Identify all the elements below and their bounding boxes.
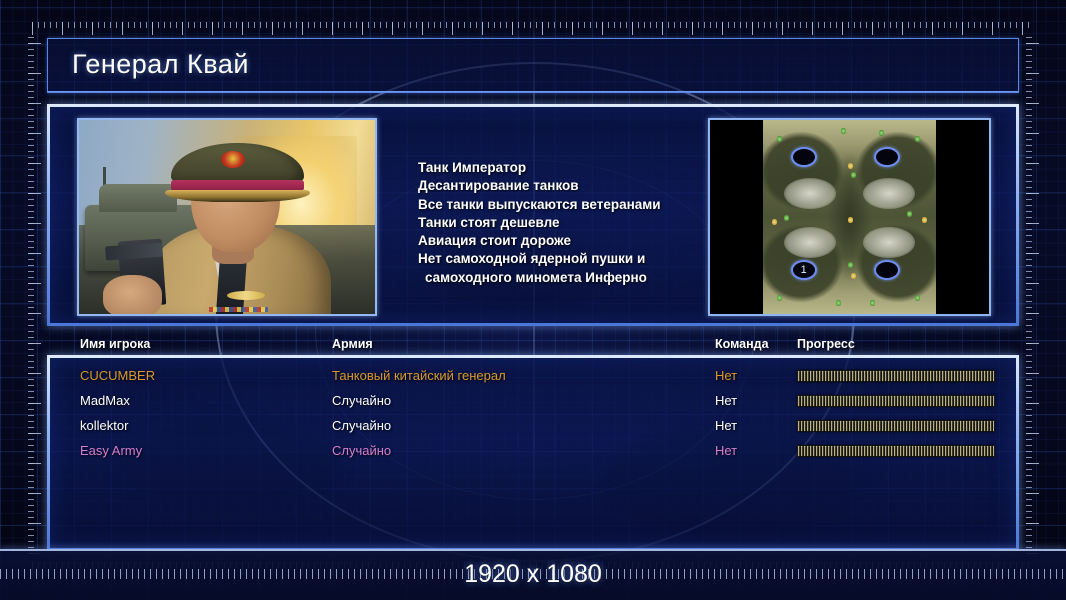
resolution-overlay: 1920 x 1080 (0, 549, 1066, 600)
player-table-header: Имя игрока Армия Команда Прогресс (47, 337, 1019, 355)
map-start-position[interactable]: 1 (791, 260, 817, 280)
map-start-position[interactable] (874, 147, 900, 167)
map-resource (848, 163, 853, 169)
portrait-ribbon-bar (209, 307, 268, 312)
player-team: Нет (715, 368, 737, 383)
player-progress-bar (797, 445, 995, 457)
title-bar: Генерал Квай (47, 38, 1019, 93)
description-line: Нет самоходной ядерной пушки и (418, 250, 718, 268)
general-description: Танк Император Десантирование танков Все… (418, 159, 718, 287)
column-header-progress: Прогресс (797, 337, 855, 351)
column-header-army: Армия (332, 337, 373, 351)
map-start-position[interactable] (791, 147, 817, 167)
player-team: Нет (715, 418, 737, 433)
general-portrait (77, 118, 377, 316)
player-name: kollektor (80, 418, 128, 433)
description-line: Танк Император (418, 159, 718, 177)
player-rows: CUCUMBER Танковый китайский генерал Нет … (50, 364, 1016, 548)
player-name: CUCUMBER (80, 368, 155, 383)
map-terrain: 1 (763, 120, 936, 314)
map-resource (848, 217, 853, 223)
player-team: Нет (715, 443, 737, 458)
map-resource (915, 295, 920, 301)
player-name: MadMax (80, 393, 130, 408)
table-row[interactable]: Easy Army Случайно Нет (50, 439, 1016, 464)
map-resource (772, 219, 777, 225)
description-line: Все танки выпускаются ветеранами (418, 196, 718, 214)
map-resource (907, 211, 912, 217)
column-header-name: Имя игрока (80, 337, 150, 351)
description-line: Танки стоят дешевле (418, 214, 718, 232)
ruler-top (32, 22, 1032, 35)
player-army: Танковый китайский генерал (332, 368, 506, 383)
portrait-hand (103, 275, 162, 316)
map-resource (777, 295, 782, 301)
map-resource (922, 217, 927, 223)
description-line: Авиация стоит дороже (418, 232, 718, 250)
map-snow-patch (784, 227, 836, 258)
player-progress-bar (797, 370, 995, 382)
player-progress-bar (797, 395, 995, 407)
map-resource (848, 262, 853, 268)
resolution-label: 1920 x 1080 (0, 560, 1066, 589)
general-info-panel: Танк Император Десантирование танков Все… (47, 104, 1019, 326)
player-team: Нет (715, 393, 737, 408)
map-resource (777, 136, 782, 142)
ruler-right (1026, 34, 1039, 554)
player-army: Случайно (332, 393, 391, 408)
page-title: Генерал Квай (72, 49, 249, 80)
map-resource (784, 215, 789, 221)
portrait-tie (216, 256, 247, 314)
map-resource (879, 130, 884, 136)
player-name: Easy Army (80, 443, 142, 458)
map-start-position[interactable] (874, 260, 900, 280)
player-army: Случайно (332, 418, 391, 433)
table-row[interactable]: kollektor Случайно Нет (50, 414, 1016, 439)
map-snow-patch (784, 178, 836, 209)
map-resource (836, 300, 841, 306)
ruler-left (28, 34, 41, 554)
map-preview[interactable]: 1 (708, 118, 991, 316)
map-resource (915, 136, 920, 142)
column-header-team: Команда (715, 337, 769, 351)
table-row[interactable]: MadMax Случайно Нет (50, 389, 1016, 414)
description-line: Десантирование танков (418, 177, 718, 195)
map-snow-patch (863, 227, 915, 258)
player-list-panel: CUCUMBER Танковый китайский генерал Нет … (47, 355, 1019, 551)
map-resource (841, 128, 846, 134)
title-bar-underline (48, 91, 1018, 92)
generals-loading-screen: Генерал Квай Танк Император (0, 0, 1066, 600)
table-row[interactable]: CUCUMBER Танковый китайский генерал Нет (50, 364, 1016, 389)
player-progress-bar (797, 420, 995, 432)
player-army: Случайно (332, 443, 391, 458)
description-line: самоходного миномета Инферно (418, 269, 718, 287)
